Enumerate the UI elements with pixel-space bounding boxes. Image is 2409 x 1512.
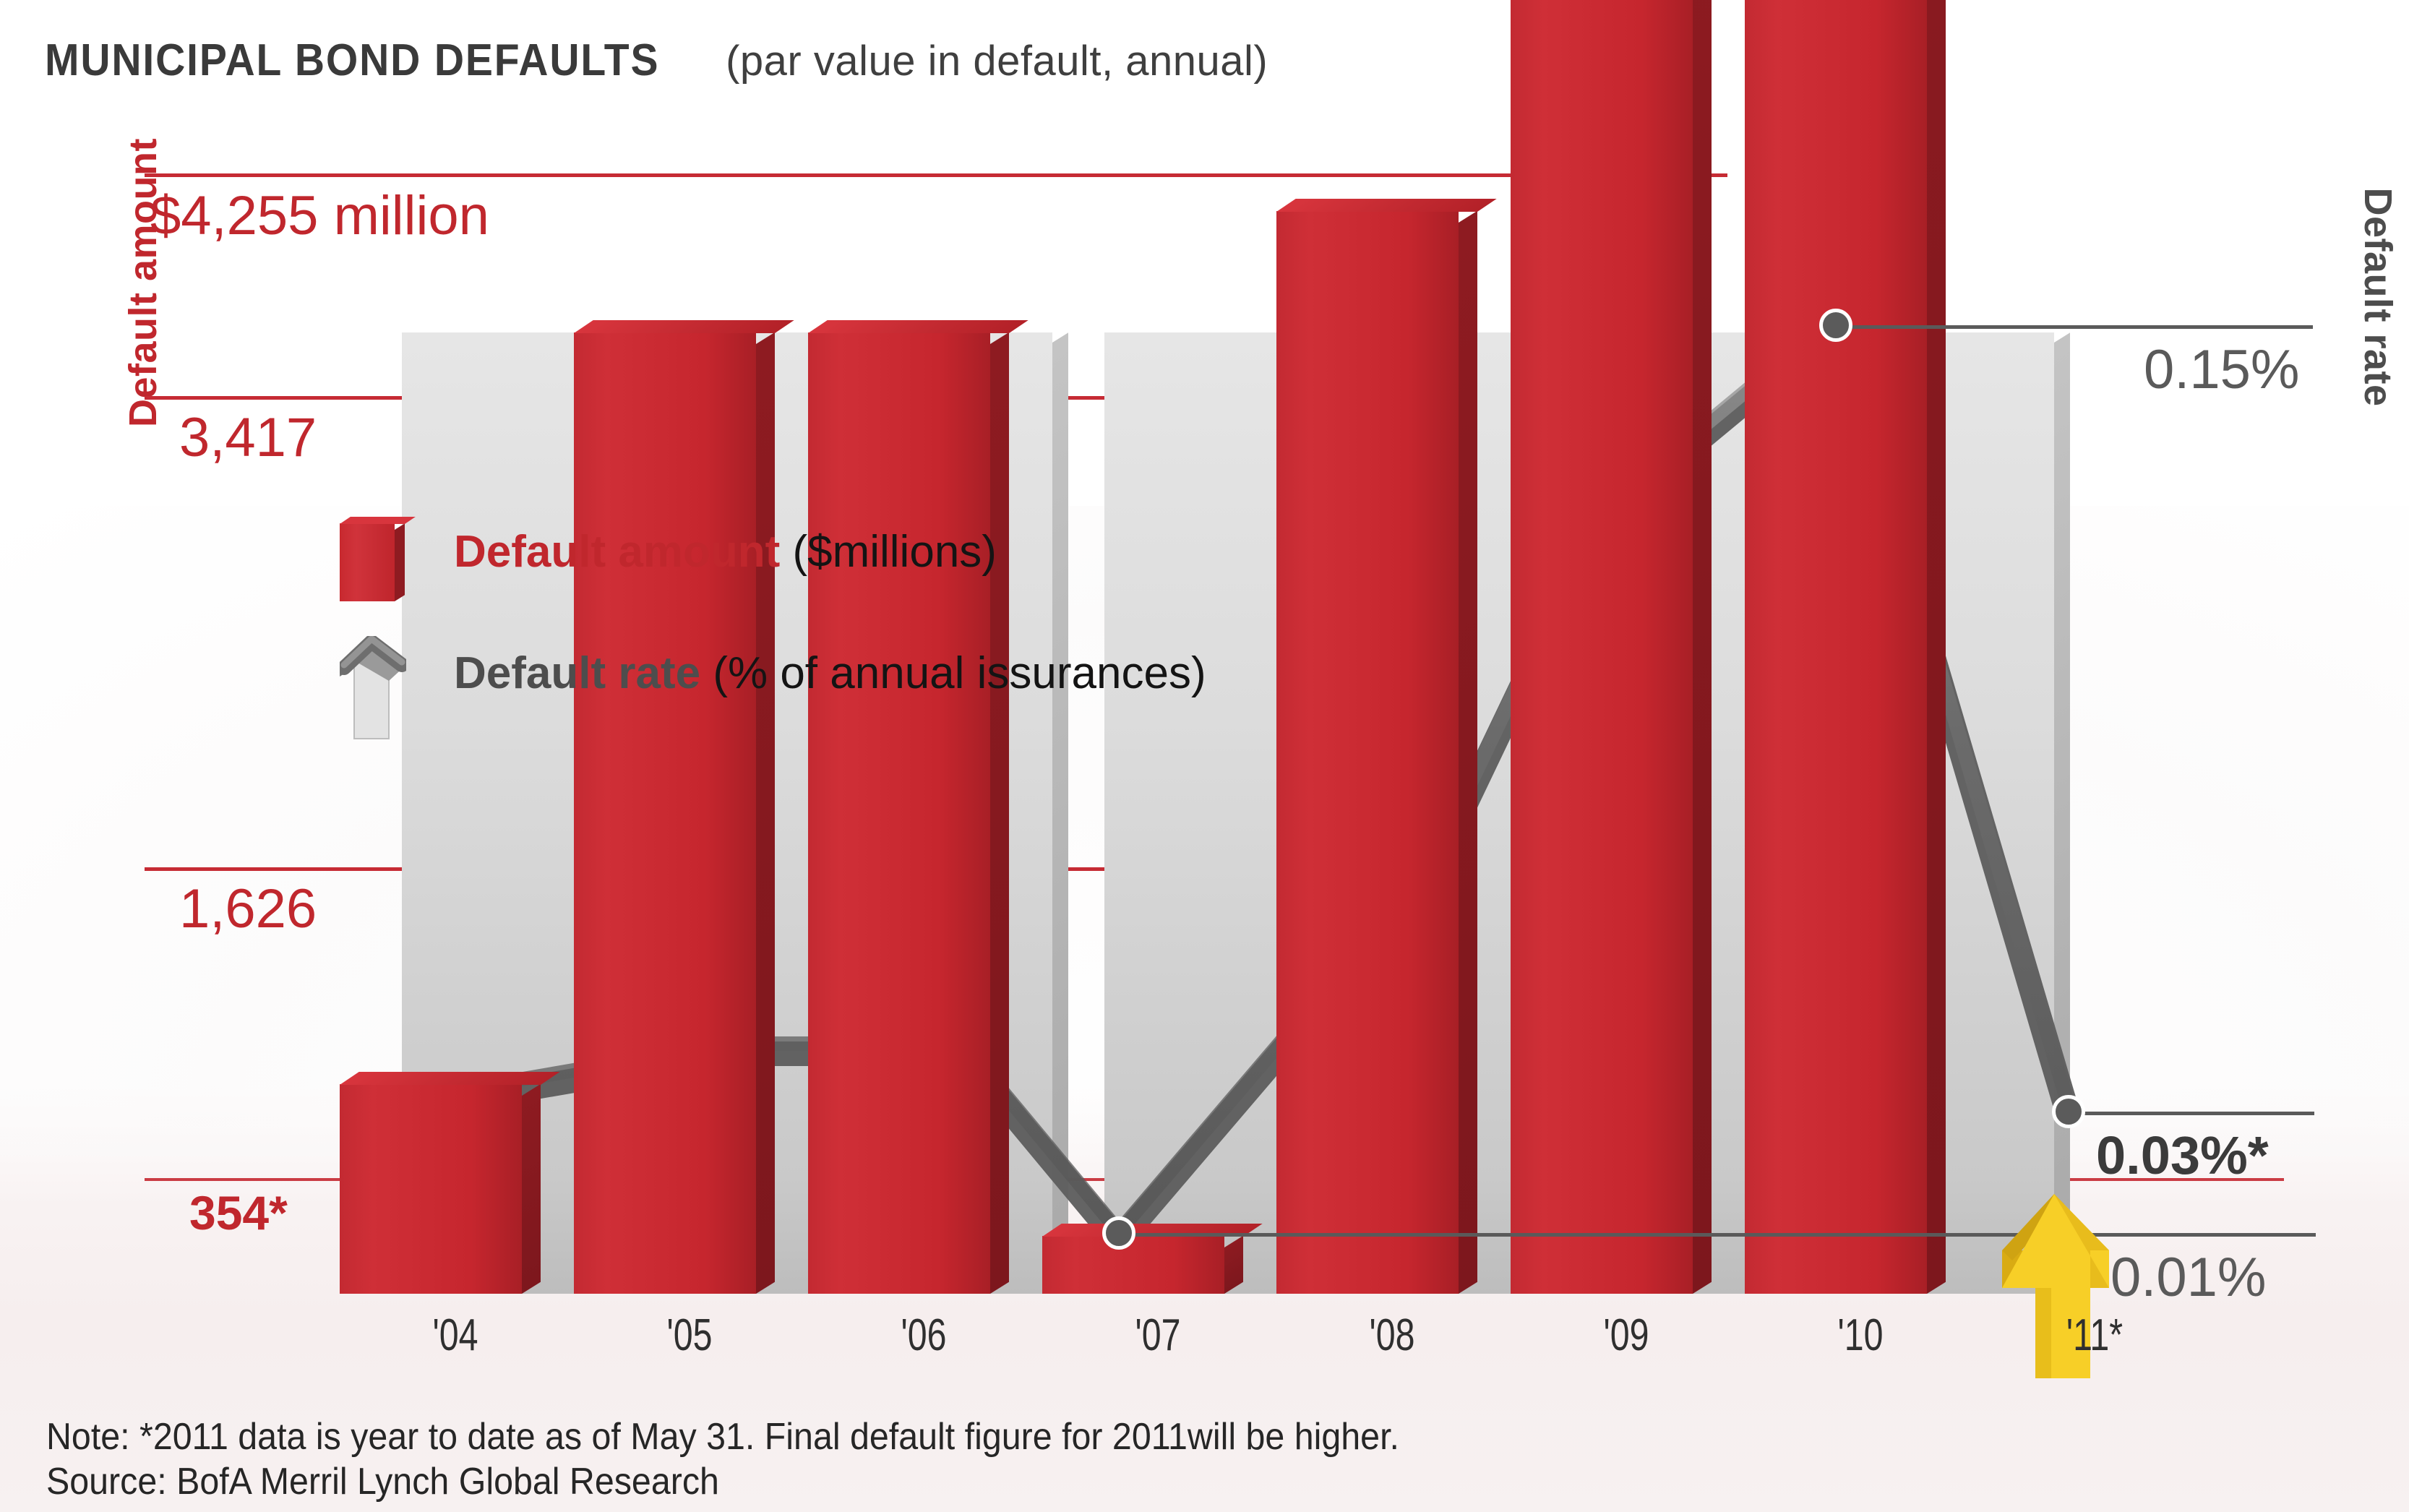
right-axis-title: Default rate <box>2356 124 2400 471</box>
xtick-10: '10 <box>1770 1310 1951 1361</box>
rate-marker-07-low <box>1102 1216 1135 1250</box>
bar-10 <box>1745 0 1927 1294</box>
rate-gridline-003 <box>2069 1112 2314 1115</box>
legend-swatch-rate-icon <box>340 636 406 742</box>
xtick-07: '07 <box>1068 1310 1248 1361</box>
left-tick-label-354: 354* <box>189 1185 288 1240</box>
rate-gridline-015 <box>1836 325 2313 329</box>
legend-unit-default-rate: (% of annual issurances) <box>700 648 1206 698</box>
footnote-note: Note: *2011 data is year to date as of M… <box>46 1415 1399 1459</box>
left-tick-label-1626: 1,626 <box>179 877 317 940</box>
chart-plot-area: Default amount Default rate $4,255 milli… <box>0 0 2409 1512</box>
gridline-4255 <box>145 173 1727 177</box>
rate-column-07 <box>1104 332 1287 1294</box>
left-tick-label-4255: $4,255 million <box>150 184 489 247</box>
xtick-09: '09 <box>1536 1310 1717 1361</box>
bar-07 <box>1042 1236 1224 1294</box>
rate-marker-11 <box>2052 1095 2085 1128</box>
xtick-08: '08 <box>1302 1310 1482 1361</box>
rate-marker-10-peak <box>1819 309 1852 342</box>
left-axis-title: Default amount <box>121 95 166 471</box>
footnote-source: Source: BofA Merril Lynch Global Researc… <box>46 1460 719 1503</box>
bar-08 <box>1276 211 1459 1294</box>
legend-label-default-amount: Default amount <box>454 527 780 577</box>
xtick-11: '11* <box>2004 1310 2185 1361</box>
bar-06 <box>808 332 990 1294</box>
xtick-05: '05 <box>599 1310 780 1361</box>
legend-swatch-bar-icon <box>340 523 395 601</box>
bar-05 <box>574 332 756 1294</box>
legend-unit-default-amount: ($millions) <box>780 527 997 577</box>
bar-09 <box>1511 0 1693 1294</box>
bar-04 <box>340 1084 522 1294</box>
legend-label-default-rate: Default rate <box>454 648 700 698</box>
left-tick-label-3417: 3,417 <box>179 406 317 469</box>
xtick-06: '06 <box>833 1310 1014 1361</box>
right-tick-label-015: 0.15% <box>2144 338 2300 401</box>
xtick-04: '04 <box>365 1310 546 1361</box>
